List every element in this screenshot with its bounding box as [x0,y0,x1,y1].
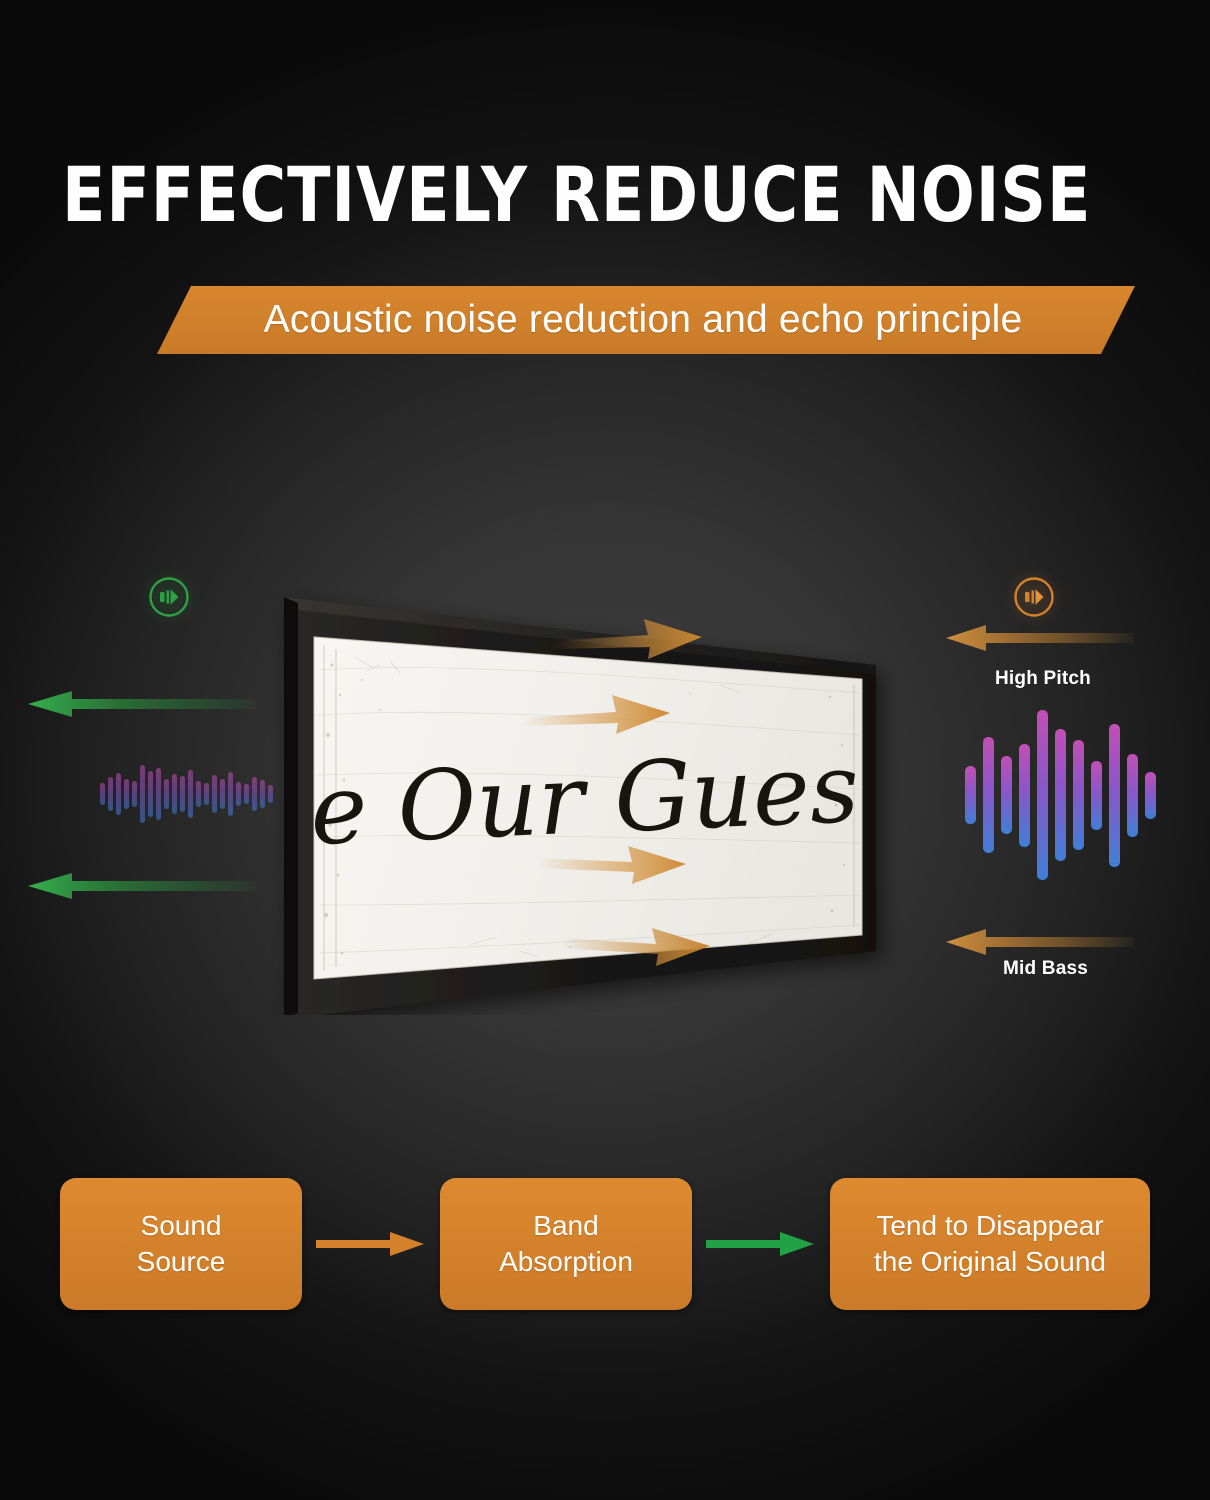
waveform-bar [236,782,241,806]
waveform-bar [220,779,225,809]
green-arrow-upper [26,690,256,718]
waveform-bar [260,780,265,808]
subtitle-banner: Acoustic noise reduction and echo princi… [157,286,1135,354]
waveform-bar [140,765,145,823]
speaker-volume-icon-orange [1012,575,1056,619]
waveform-bar [1127,754,1138,837]
waveform-bar [1001,756,1012,834]
flow-step-band-absorption[interactable]: Band Absorption [440,1178,692,1310]
speaker-volume-icon-green [147,575,191,619]
flow-connector-orange [302,1231,440,1257]
waveform-bar [1109,724,1120,867]
waveform-bar [1073,740,1084,850]
waveform-bar [100,783,105,805]
waveform-bar [244,784,249,804]
subtitle-banner-text: Acoustic noise reduction and echo princi… [264,298,1029,342]
waveform-bar [132,781,137,807]
flow-step-sound-source[interactable]: Sound Source [60,1178,302,1310]
waveform-bar [148,771,153,817]
waveform-bar [108,777,113,811]
label-mid-bass: Mid Bass [1003,958,1088,980]
waveform-bar [156,768,161,820]
flow-step-tend-to-disappear[interactable]: Tend to Disappear the Original Sound [830,1178,1150,1310]
sign-arrow-top-1 [552,615,702,661]
waveform-bar [252,777,257,811]
flow-step-tend-to-disappear-label: Tend to Disappear the Original Sound [874,1208,1106,1280]
waveform-bar [983,737,994,853]
waveform-bar [172,774,177,814]
waveform-bar [1091,761,1102,830]
waveform-bar [1055,729,1066,861]
source-waveform [965,710,1156,880]
waveform-bar [212,775,217,813]
waveform-bar [228,772,233,816]
attenuated-waveform [100,763,273,825]
sign-arrow-mid-1 [520,690,670,736]
process-flow-diagram: Sound Source Band Absorption Tend to Dis… [60,1178,1150,1310]
waveform-bar [188,770,193,818]
waveform-bar [164,779,169,809]
green-arrow-lower [26,872,256,900]
flow-connector-green [692,1231,830,1257]
orange-arrow-high-pitch [944,624,1134,652]
waveform-bar [965,766,976,824]
flow-step-sound-source-label: Sound Source [137,1208,226,1280]
flow-step-band-absorption-label: Band Absorption [499,1208,633,1280]
waveform-bar [1037,710,1048,880]
page-title: EFFECTIVELY REDUCE NOISE [62,158,899,232]
waveform-bar [1145,772,1156,819]
waveform-bar [1019,744,1030,847]
waveform-bar [180,776,185,812]
orange-arrow-mid-bass [944,928,1134,956]
waveform-bar [196,781,201,807]
waveform-bar [124,779,129,809]
sign-arrow-mid-2 [536,838,686,884]
waveform-bar [116,773,121,815]
waveform-bar [204,783,209,805]
sign-arrow-bottom-1 [560,920,710,966]
infographic-page: EFFECTIVELY REDUCE NOISE Acoustic noise … [0,0,1210,1500]
label-high-pitch: High Pitch [995,668,1091,690]
